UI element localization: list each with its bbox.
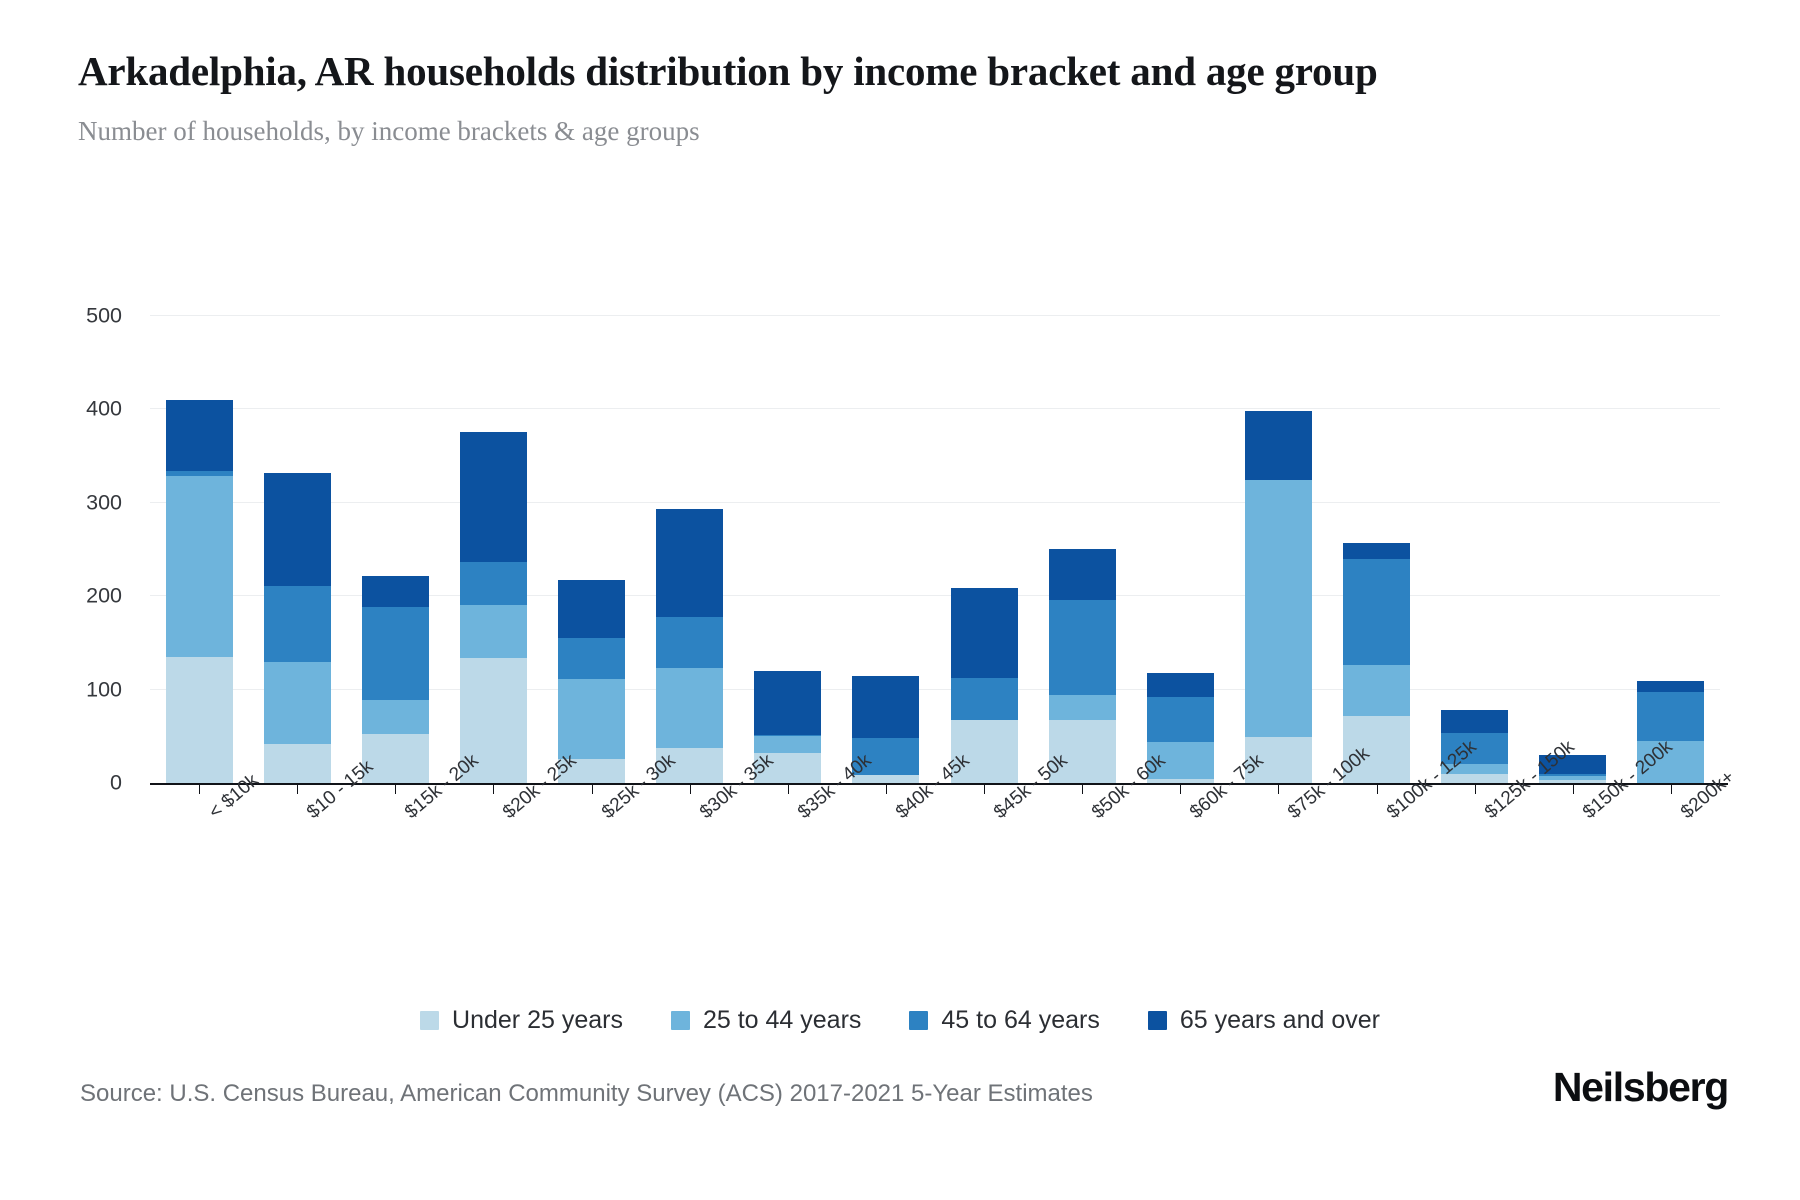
- bar-segment[interactable]: [460, 562, 527, 605]
- bar-segment[interactable]: [166, 657, 233, 783]
- bar-segment[interactable]: [1049, 695, 1116, 720]
- x-axis-tick: [984, 783, 985, 794]
- bar-segment[interactable]: [1049, 549, 1116, 600]
- bar-segment[interactable]: [1245, 411, 1312, 479]
- bar-slot: [248, 260, 346, 783]
- x-axis-tick: [690, 783, 691, 794]
- legend-label: 65 years and over: [1180, 1006, 1380, 1035]
- legend-item[interactable]: 25 to 44 years: [671, 1006, 861, 1035]
- bar-slot: [739, 260, 837, 783]
- bar-segment[interactable]: [1637, 692, 1704, 741]
- bar-segment[interactable]: [558, 638, 625, 679]
- x-axis-tick: [1573, 783, 1574, 794]
- bar-segment[interactable]: [1637, 681, 1704, 692]
- y-axis-tick-label: 100: [86, 677, 122, 702]
- bar-segment[interactable]: [558, 679, 625, 758]
- bar-slot: [1328, 260, 1426, 783]
- legend-label: Under 25 years: [452, 1006, 623, 1035]
- bar-segment[interactable]: [951, 588, 1018, 679]
- bar-slot: [1622, 260, 1720, 783]
- bar-slot: [1131, 260, 1229, 783]
- bar-segment[interactable]: [1245, 480, 1312, 738]
- stacked-bar[interactable]: [1245, 411, 1312, 783]
- legend-item[interactable]: Under 25 years: [420, 1006, 623, 1035]
- stacked-bar[interactable]: [1343, 543, 1410, 783]
- bar-segment[interactable]: [951, 678, 1018, 720]
- y-axis-tick-label: 200: [86, 584, 122, 609]
- bar-slot: [641, 260, 739, 783]
- stacked-bar[interactable]: [166, 400, 233, 783]
- bar-segment[interactable]: [264, 473, 331, 586]
- x-axis-tick: [395, 783, 396, 794]
- bar-segment[interactable]: [362, 607, 429, 700]
- x-axis-tick: [297, 783, 298, 794]
- plot-region: [150, 260, 1720, 783]
- bar-segment[interactable]: [362, 576, 429, 607]
- x-axis-tick: [592, 783, 593, 794]
- x-axis-tick: [199, 783, 200, 794]
- bar-slot: [1229, 260, 1327, 783]
- bar-segment[interactable]: [264, 744, 331, 783]
- bar-segment[interactable]: [754, 671, 821, 735]
- source-note: Source: U.S. Census Bureau, American Com…: [80, 1080, 1093, 1108]
- x-axis-tick: [1671, 783, 1672, 794]
- legend-label: 25 to 44 years: [703, 1006, 861, 1035]
- bar-slot: [444, 260, 542, 783]
- x-axis-tick: [1377, 783, 1378, 794]
- stacked-bar[interactable]: [264, 473, 331, 783]
- bar-slot: [1524, 260, 1622, 783]
- bar-segment[interactable]: [558, 580, 625, 638]
- legend-item[interactable]: 65 years and over: [1148, 1006, 1380, 1035]
- x-axis-tick: [1475, 783, 1476, 794]
- bar-segment[interactable]: [1441, 710, 1508, 732]
- bar-segment[interactable]: [166, 476, 233, 657]
- stacked-bar[interactable]: [1049, 549, 1116, 783]
- legend-swatch-icon: [420, 1011, 439, 1030]
- bar-segment[interactable]: [460, 432, 527, 562]
- y-axis-tick-label: 500: [86, 304, 122, 329]
- bar-segment[interactable]: [1343, 665, 1410, 715]
- bar-slot: [150, 260, 248, 783]
- bar-segment[interactable]: [166, 400, 233, 471]
- bar-segment[interactable]: [1343, 543, 1410, 559]
- bar-slot: [935, 260, 1033, 783]
- bar-segment[interactable]: [1049, 600, 1116, 695]
- bar-segment[interactable]: [656, 668, 723, 747]
- y-axis-tick-label: 0: [110, 771, 122, 796]
- legend-label: 45 to 64 years: [941, 1006, 1099, 1035]
- x-axis-labels: < $10k$10 - 15k$15k - 20k$20k - 25k$25k …: [150, 795, 1720, 915]
- stacked-bar[interactable]: [362, 576, 429, 783]
- bar-group: [150, 260, 1720, 783]
- stacked-bar[interactable]: [656, 509, 723, 783]
- chart-legend[interactable]: Under 25 years25 to 44 years45 to 64 yea…: [0, 1006, 1800, 1035]
- bar-segment[interactable]: [362, 700, 429, 734]
- bar-segment[interactable]: [264, 586, 331, 662]
- bar-segment[interactable]: [1147, 697, 1214, 742]
- stacked-bar[interactable]: [460, 432, 527, 783]
- x-axis-tick: [1180, 783, 1181, 794]
- bar-segment[interactable]: [264, 662, 331, 744]
- y-axis-tick-label: 400: [86, 397, 122, 422]
- bar-segment[interactable]: [460, 605, 527, 658]
- x-axis-tick: [493, 783, 494, 794]
- bar-segment[interactable]: [656, 617, 723, 668]
- x-axis-tick: [886, 783, 887, 794]
- x-axis-tick: [1278, 783, 1279, 794]
- bar-slot: [837, 260, 935, 783]
- legend-swatch-icon: [909, 1011, 928, 1030]
- bar-segment[interactable]: [1343, 559, 1410, 665]
- bar-slot: [346, 260, 444, 783]
- bar-segment[interactable]: [1147, 673, 1214, 697]
- x-axis-tick: [788, 783, 789, 794]
- y-axis-labels: 0100200300400500: [0, 260, 140, 783]
- legend-swatch-icon: [1148, 1011, 1167, 1030]
- bar-slot: [1426, 260, 1524, 783]
- legend-swatch-icon: [671, 1011, 690, 1030]
- bar-slot: [1033, 260, 1131, 783]
- bar-slot: [543, 260, 641, 783]
- legend-item[interactable]: 45 to 64 years: [909, 1006, 1099, 1035]
- bar-segment[interactable]: [852, 676, 919, 739]
- brand-logo: Neilsberg: [1553, 1064, 1728, 1111]
- x-axis-tick: [1082, 783, 1083, 794]
- bar-segment[interactable]: [656, 509, 723, 616]
- y-axis-tick-label: 300: [86, 490, 122, 515]
